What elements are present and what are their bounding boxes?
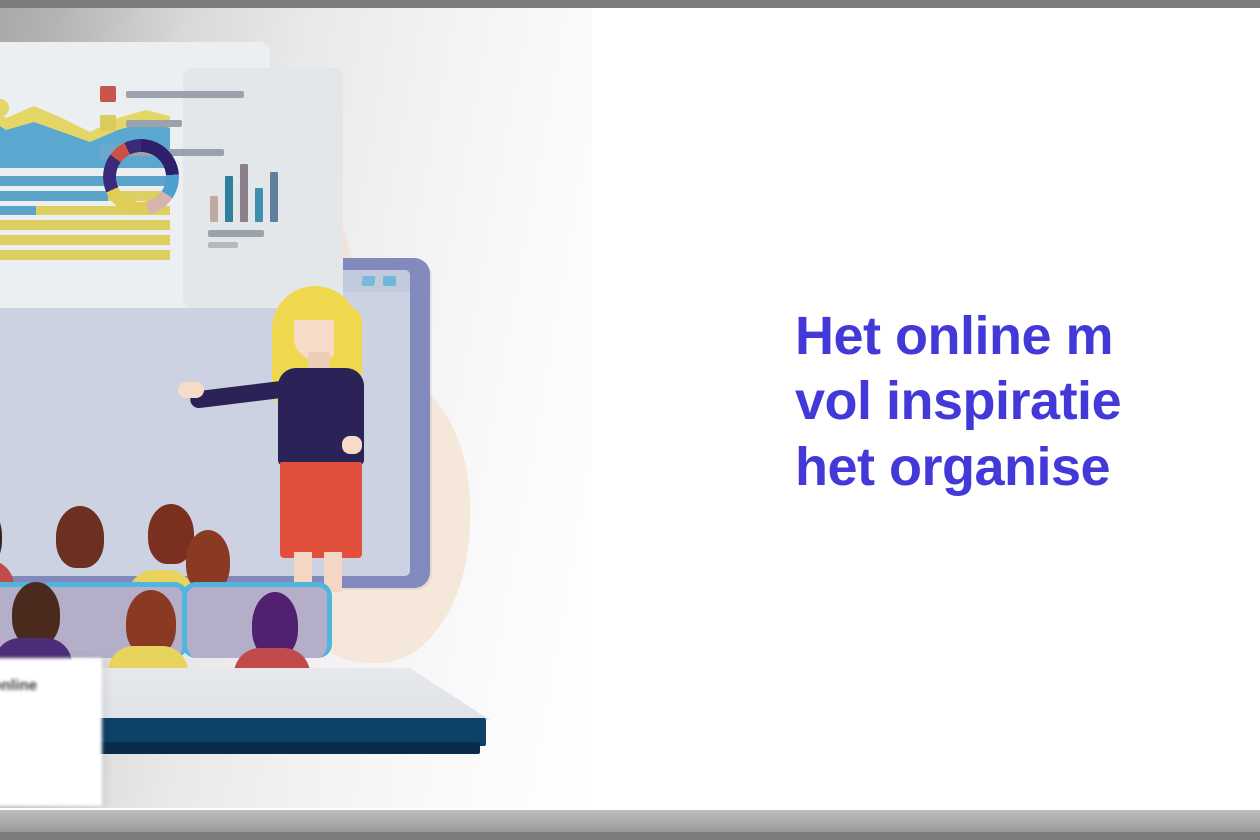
audience-head xyxy=(56,506,104,568)
window-edge-bottom xyxy=(0,832,1260,840)
presenter-hand-hip xyxy=(342,436,362,454)
cursor-icon xyxy=(361,276,375,286)
illustration-stage: atief aantal over online events in een d… xyxy=(0,8,592,808)
chart-caption-bar xyxy=(208,230,264,237)
legend-item xyxy=(100,86,244,102)
hero-section: atief aantal over online events in een d… xyxy=(0,8,1260,808)
donut-chart xyxy=(103,139,179,215)
audience-head xyxy=(0,504,2,568)
audience-head xyxy=(12,582,60,646)
chart-caption-bar2 xyxy=(208,242,238,248)
legend-item xyxy=(100,115,244,131)
bar-row xyxy=(0,250,170,260)
hero-copy-column: Het online m vol inspiratie het organise xyxy=(592,8,1260,808)
bar-row xyxy=(0,220,170,230)
hero-illustration-column: atief aantal over online events in een d… xyxy=(0,8,592,808)
blurred-stat-card: atief aantal over online events in een d… xyxy=(0,658,102,806)
stat-card-title: atief aantal over online events xyxy=(0,676,86,717)
headline-line-1: Het online m xyxy=(795,304,1260,369)
window-edge-top xyxy=(0,0,1260,8)
bar-row xyxy=(0,235,170,245)
window-edge-bottom-soft xyxy=(0,810,1260,832)
hero-headline: Het online m vol inspiratie het organise xyxy=(795,304,1260,500)
vertical-bar-chart xyxy=(210,160,278,222)
headline-line-2: vol inspiratie xyxy=(795,369,1260,434)
page-root: atief aantal over online events in een d… xyxy=(0,0,1260,840)
headline-line-3: het organise xyxy=(795,435,1260,500)
presenter-hand xyxy=(178,382,204,398)
window-icon xyxy=(383,276,396,286)
stat-card-body: in een dashboard alle… xyxy=(0,727,86,743)
